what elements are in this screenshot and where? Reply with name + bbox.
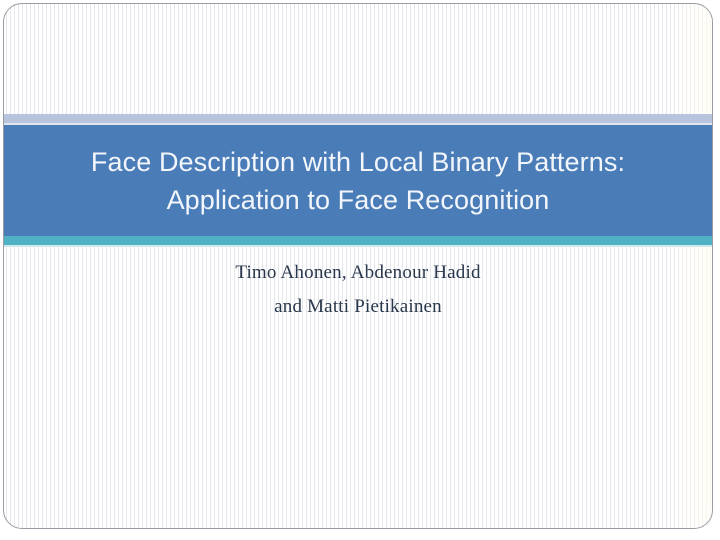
title-banner-top-rule (4, 114, 712, 123)
title-banner-bottom-rule (4, 236, 712, 245)
slide-body-area (4, 334, 712, 529)
slide-title-line-2: Application to Face Recognition (167, 181, 550, 219)
slide-title-line-1: Face Description with Local Binary Patte… (91, 143, 625, 181)
author-block: Timo Ahonen, Abdenour Hadid and Matti Pi… (4, 256, 712, 324)
presentation-slide: Face Description with Local Binary Patte… (0, 0, 720, 540)
author-line-2: and Matti Pietikainen (4, 290, 712, 324)
title-banner: Face Description with Local Binary Patte… (4, 125, 712, 236)
slide-canvas: Face Description with Local Binary Patte… (3, 3, 713, 529)
author-line-1: Timo Ahonen, Abdenour Hadid (4, 256, 712, 290)
title-banner-bottom-hairline (4, 245, 712, 247)
